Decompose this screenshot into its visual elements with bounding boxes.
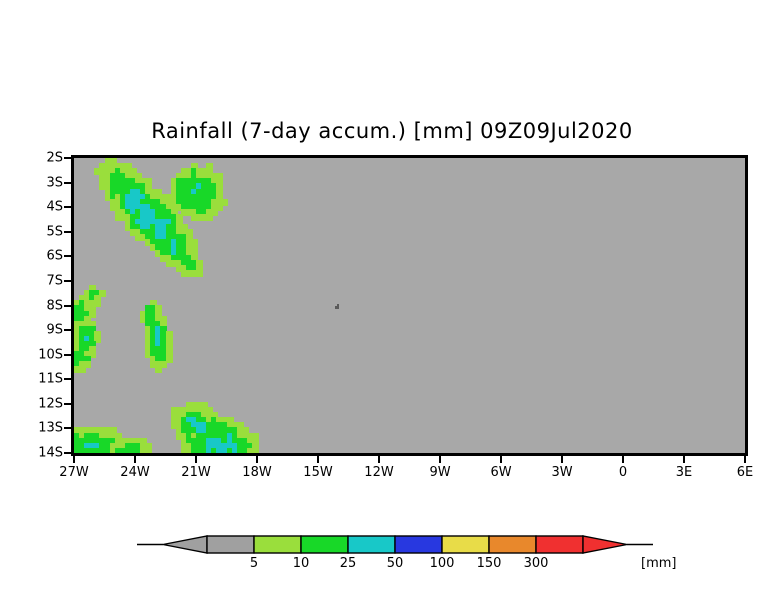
colorbar-swatch	[348, 536, 395, 553]
x-axis-tick	[317, 456, 319, 463]
y-axis-label: 10S	[18, 347, 63, 362]
y-axis-tick	[64, 403, 71, 405]
map-plot-area	[71, 155, 748, 456]
y-axis-tick	[64, 255, 71, 257]
colorbar-tick-label: 150	[477, 556, 502, 571]
y-axis-label: 3S	[18, 175, 63, 190]
x-axis-label: 3W	[532, 465, 592, 480]
x-axis-label: 18W	[227, 465, 287, 480]
colorbar-swatch	[254, 536, 301, 553]
x-axis-tick	[500, 456, 502, 463]
colorbar-tick-label: 50	[387, 556, 404, 571]
x-axis-tick	[439, 456, 441, 463]
y-axis-tick	[64, 452, 71, 454]
y-axis-label: 6S	[18, 249, 63, 264]
x-axis-label: 9W	[410, 465, 470, 480]
y-axis-label: 14S	[18, 446, 63, 461]
colorbar-swatch	[301, 536, 348, 553]
colorbar-tick-label: 5	[250, 556, 258, 571]
y-axis-label: 5S	[18, 224, 63, 239]
rainfall-raster	[74, 158, 745, 453]
colorbar-swatch	[536, 536, 583, 553]
x-axis-tick	[622, 456, 624, 463]
x-axis-tick	[134, 456, 136, 463]
x-axis-tick	[561, 456, 563, 463]
y-axis-tick	[64, 182, 71, 184]
x-axis-tick	[378, 456, 380, 463]
y-axis-label: 4S	[18, 200, 63, 215]
colorbar-swatch	[395, 536, 442, 553]
colorbar-over-arrow	[583, 536, 627, 553]
x-axis-label: 3E	[654, 465, 714, 480]
colorbar-under-arrow	[163, 536, 207, 553]
colorbar-swatch	[489, 536, 536, 553]
y-axis-label: 8S	[18, 298, 63, 313]
y-axis-tick	[64, 427, 71, 429]
x-axis-label: 12W	[349, 465, 409, 480]
y-axis-label: 9S	[18, 323, 63, 338]
colorbar-tick-label: 100	[430, 556, 455, 571]
x-axis-tick	[195, 456, 197, 463]
colorbar-tick-label: 10	[293, 556, 310, 571]
x-axis-tick	[256, 456, 258, 463]
x-axis-tick	[73, 456, 75, 463]
y-axis-tick	[64, 157, 71, 159]
colorbar-units-label: [mm]	[641, 556, 676, 571]
y-axis-tick	[64, 206, 71, 208]
colorbar-swatch	[442, 536, 489, 553]
x-axis-label: 0	[593, 465, 653, 480]
x-axis-label: 15W	[288, 465, 348, 480]
colorbar-swatch	[207, 536, 254, 553]
y-axis-label: 11S	[18, 372, 63, 387]
x-axis-label: 6E	[715, 465, 775, 480]
y-axis-tick	[64, 231, 71, 233]
colorbar-tick-label: 25	[340, 556, 357, 571]
y-axis-label: 13S	[18, 421, 63, 436]
y-axis-label: 7S	[18, 273, 63, 288]
y-axis-tick	[64, 305, 71, 307]
x-axis-label: 24W	[105, 465, 165, 480]
x-axis-tick	[744, 456, 746, 463]
x-axis-label: 6W	[471, 465, 531, 480]
x-axis-label: 27W	[44, 465, 104, 480]
y-axis-label: 2S	[18, 151, 63, 166]
x-axis-label: 21W	[166, 465, 226, 480]
y-axis-tick	[64, 378, 71, 380]
y-axis-label: 12S	[18, 396, 63, 411]
colorbar-tick-label: 300	[524, 556, 549, 571]
y-axis-tick	[64, 329, 71, 331]
y-axis-tick	[64, 354, 71, 356]
page-title: Rainfall (7-day accum.) [mm] 09Z09Jul202…	[0, 119, 784, 143]
x-axis-tick	[683, 456, 685, 463]
y-axis-tick	[64, 280, 71, 282]
